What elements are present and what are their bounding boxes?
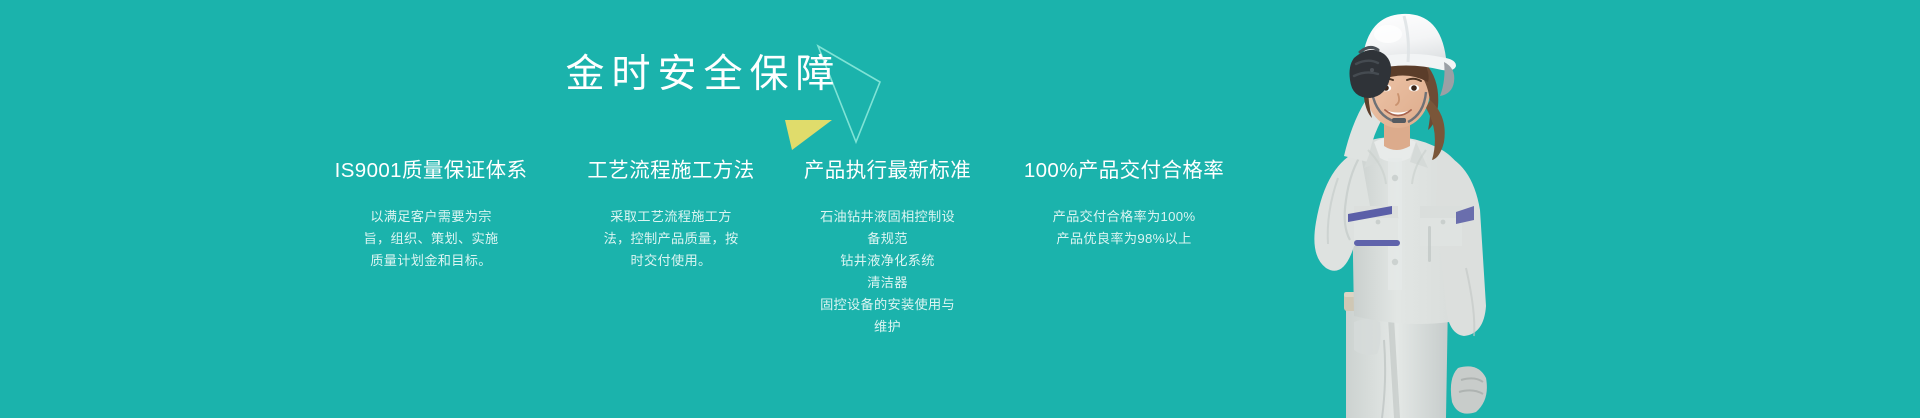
feature-body-line: 备规范 (788, 228, 987, 250)
feature-body-line: 法，控制产品质量，按 (590, 228, 752, 250)
feature-body-line: 产品交付合格率为100% (1009, 206, 1239, 228)
feature-body-line: 采取工艺流程施工方 (590, 206, 752, 228)
page-title: 金时安全保障 (558, 52, 841, 99)
feature-body-line: 旨，组织、策划、实施 (342, 228, 520, 250)
safety-worker-photo (1268, 0, 1548, 418)
feature-body-line: 以满足客户需要为宗 (342, 206, 520, 228)
feature-heading-2: 工艺流程施工方法 (562, 158, 780, 184)
feature-body-4: 产品交付合格率为100% 产品优良率为98%以上 (995, 206, 1253, 250)
feature-body-line: 固控设备的安装使用与 (788, 294, 987, 316)
worker-lower-glove (1451, 366, 1487, 413)
feature-heading-3: 产品执行最新标准 (780, 158, 995, 184)
feature-body-line: 质量计划金和目标。 (342, 250, 520, 272)
feature-body-3: 石油钻井液固相控制设 备规范 钻井液净化系统 清洁器 固控设备的安装使用与 维护 (780, 206, 995, 338)
feature-column-1: IS9001质量保证体系 以满足客户需要为宗 旨，组织、策划、实施 质量计划金和… (300, 158, 562, 272)
feature-column-4: 100%产品交付合格率 产品交付合格率为100% 产品优良率为98%以上 (995, 158, 1253, 250)
feature-body-line: 时交付使用。 (590, 250, 752, 272)
feature-column-2: 工艺流程施工方法 采取工艺流程施工方 法，控制产品质量，按 时交付使用。 (562, 158, 780, 272)
feature-heading-4: 100%产品交付合格率 (995, 158, 1253, 184)
feature-body-line: 钻井液净化系统 (788, 250, 987, 272)
feature-body-line: 产品优良率为98%以上 (1009, 228, 1239, 250)
solid-triangle-icon (770, 110, 845, 155)
feature-body-2: 采取工艺流程施工方 法，控制产品质量，按 时交付使用。 (562, 206, 780, 272)
feature-body-line: 维护 (788, 316, 987, 338)
title-container: 金时安全保障 (0, 52, 1400, 99)
feature-heading-1: IS9001质量保证体系 (300, 158, 562, 184)
feature-columns: IS9001质量保证体系 以满足客户需要为宗 旨，组织、策划、实施 质量计划金和… (300, 158, 1300, 338)
feature-body-line: 石油钻井液固相控制设 (788, 206, 987, 228)
feature-column-3: 产品执行最新标准 石油钻井液固相控制设 备规范 钻井液净化系统 清洁器 固控设备… (780, 158, 995, 338)
feature-body-line: 清洁器 (788, 272, 987, 294)
safety-guarantee-banner: 金时安全保障 IS9001质量保证体系 以满足客户需要为宗 旨，组织、策划、实施… (0, 0, 1920, 418)
feature-body-1: 以满足客户需要为宗 旨，组织、策划、实施 质量计划金和目标。 (300, 206, 562, 272)
